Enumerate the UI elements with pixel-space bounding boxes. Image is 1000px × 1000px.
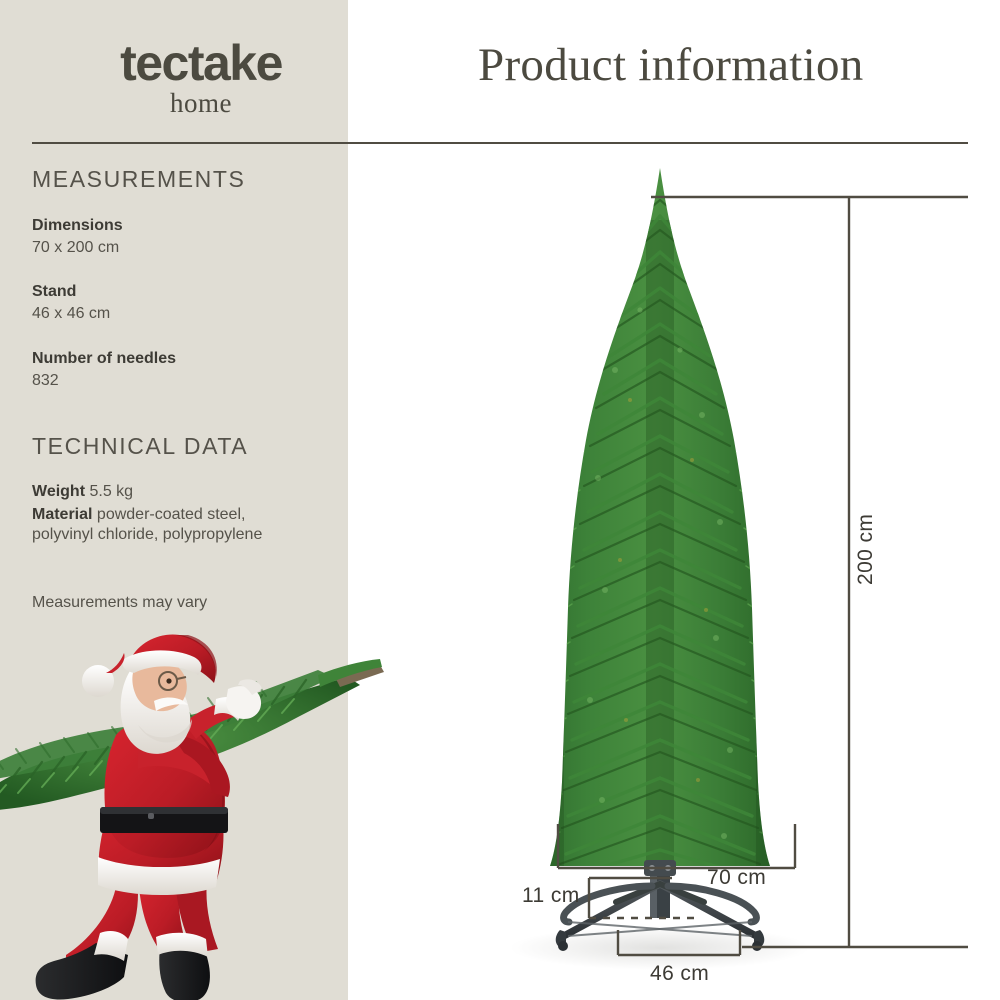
measurement-stand: Stand 46 x 46 cm bbox=[32, 281, 332, 325]
stand-value: 46 x 46 cm bbox=[32, 303, 332, 325]
dimensions-label: Dimensions bbox=[32, 215, 332, 237]
product-information-sheet: tectake home Product information MEASURE… bbox=[0, 0, 1000, 1000]
material-value: powder-coated steel, bbox=[97, 506, 246, 523]
material-value-line2: polyvinyl chloride, polypropylene bbox=[32, 524, 332, 546]
header-divider bbox=[32, 142, 968, 144]
technical-section-title: TECHNICAL DATA bbox=[32, 433, 248, 460]
width-dimension-label: 70 cm bbox=[707, 866, 766, 890]
brand-name: tectake bbox=[76, 36, 326, 90]
dimensions-value: 70 x 200 cm bbox=[32, 237, 332, 259]
technical-weight: Weight 5.5 kg bbox=[32, 483, 332, 501]
measurement-note: Measurements may vary bbox=[32, 594, 207, 612]
material-label: Material bbox=[32, 506, 92, 523]
boot-back-icon bbox=[36, 931, 128, 999]
brand-logo: tectake home bbox=[76, 36, 326, 118]
needles-value: 832 bbox=[32, 370, 332, 392]
height-dimension-label: 200 cm bbox=[854, 514, 878, 585]
stand-width-dimension-label: 46 cm bbox=[650, 962, 709, 986]
weight-value: 5.5 kg bbox=[89, 483, 133, 500]
technical-material: Material powder-coated steel, polyvinyl … bbox=[32, 506, 332, 546]
measurements-section-title: MEASUREMENTS bbox=[32, 166, 245, 193]
stand-label: Stand bbox=[32, 281, 332, 303]
belt-icon bbox=[100, 807, 228, 833]
measurement-dimensions: Dimensions 70 x 200 cm bbox=[32, 215, 332, 259]
page-title: Product information bbox=[478, 38, 864, 92]
stand-height-dimension-label: 11 cm bbox=[522, 884, 580, 908]
brand-sub: home bbox=[76, 88, 326, 118]
needles-label: Number of needles bbox=[32, 348, 332, 370]
boot-front-icon bbox=[156, 933, 210, 1000]
christmas-tree-icon bbox=[430, 160, 890, 990]
measurement-needles: Number of needles 832 bbox=[32, 348, 332, 392]
weight-label: Weight bbox=[32, 483, 85, 500]
santa-figure-icon bbox=[0, 625, 388, 1000]
